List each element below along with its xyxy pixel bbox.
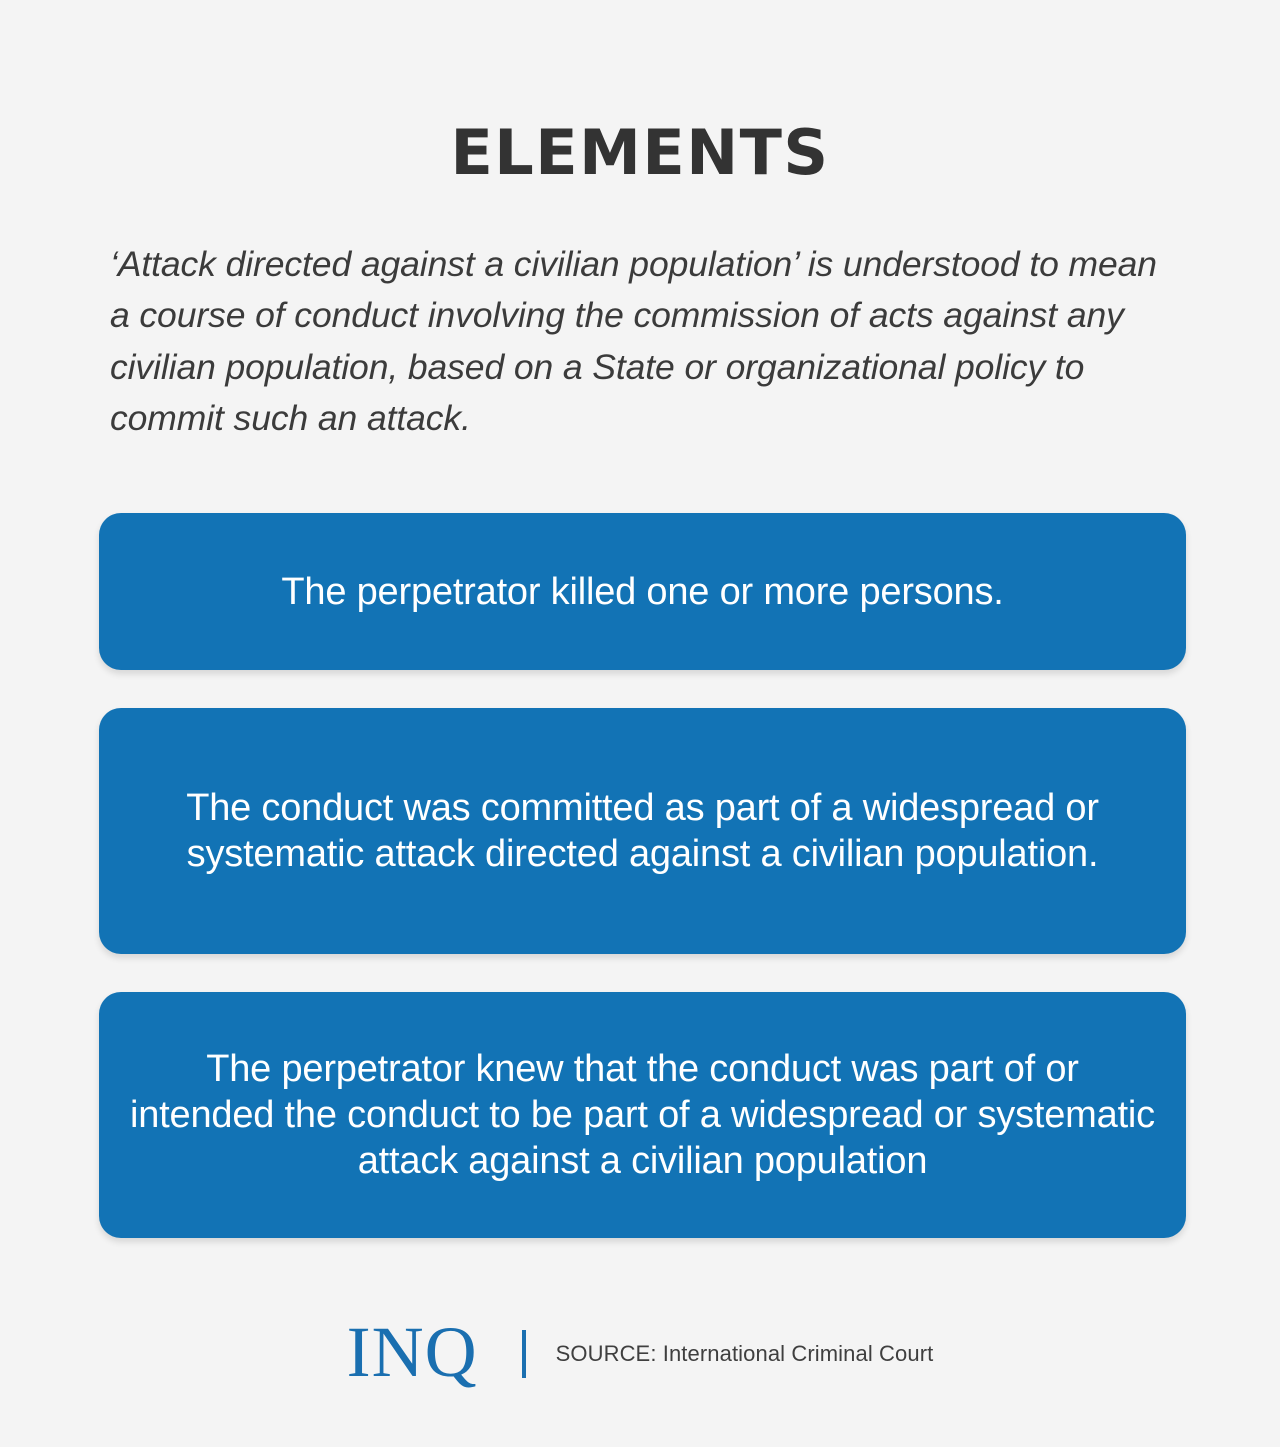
vertical-divider-icon: [522, 1330, 526, 1378]
footer: INQ SOURCE: International Criminal Court: [0, 1318, 1280, 1390]
inquirer-logo: INQ: [347, 1316, 478, 1388]
element-card-2: The conduct was committed as part of a w…: [99, 708, 1186, 954]
intro-paragraph: ‘Attack directed against a civilian popu…: [110, 239, 1185, 445]
element-card-1-text: The perpetrator killed one or more perso…: [129, 569, 1156, 615]
elements-list: The perpetrator killed one or more perso…: [99, 513, 1186, 1238]
element-card-3: The perpetrator knew that the conduct wa…: [99, 992, 1186, 1238]
source-attribution: SOURCE: International Criminal Court: [556, 1341, 934, 1367]
page-title: ELEMENTS: [0, 120, 1280, 185]
element-card-2-text: The conduct was committed as part of a w…: [129, 785, 1156, 877]
element-card-3-text: The perpetrator knew that the conduct wa…: [129, 1046, 1156, 1184]
element-card-1: The perpetrator killed one or more perso…: [99, 513, 1186, 670]
infographic-page: ELEMENTS ‘Attack directed against a civi…: [0, 0, 1280, 1447]
